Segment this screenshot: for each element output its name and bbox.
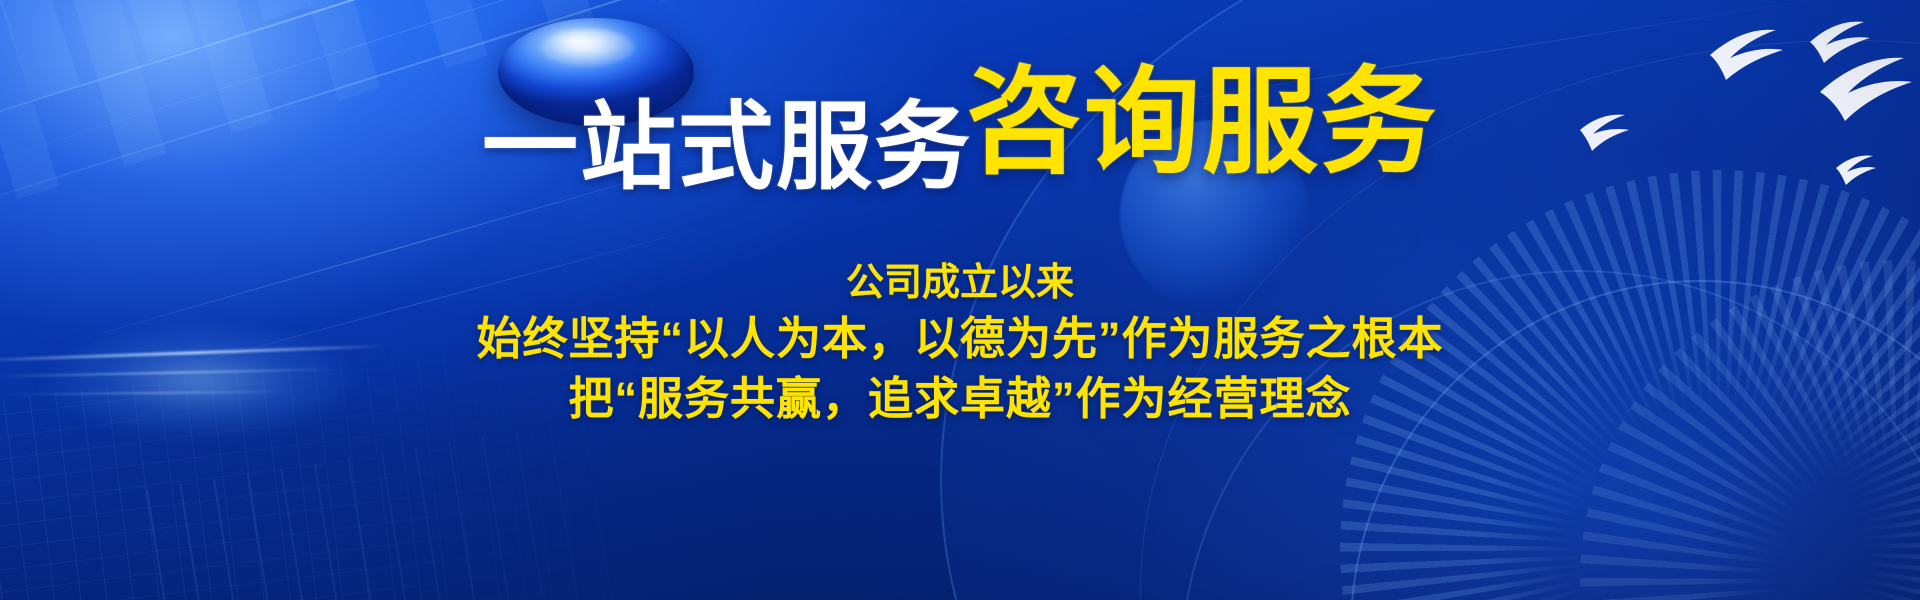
vignette-overlay: [0, 0, 1920, 600]
promo-banner: 一站式服务咨询服务 公司成立以来 始终坚持“以人为本，以德为先”作为服务之根本 …: [0, 0, 1920, 600]
